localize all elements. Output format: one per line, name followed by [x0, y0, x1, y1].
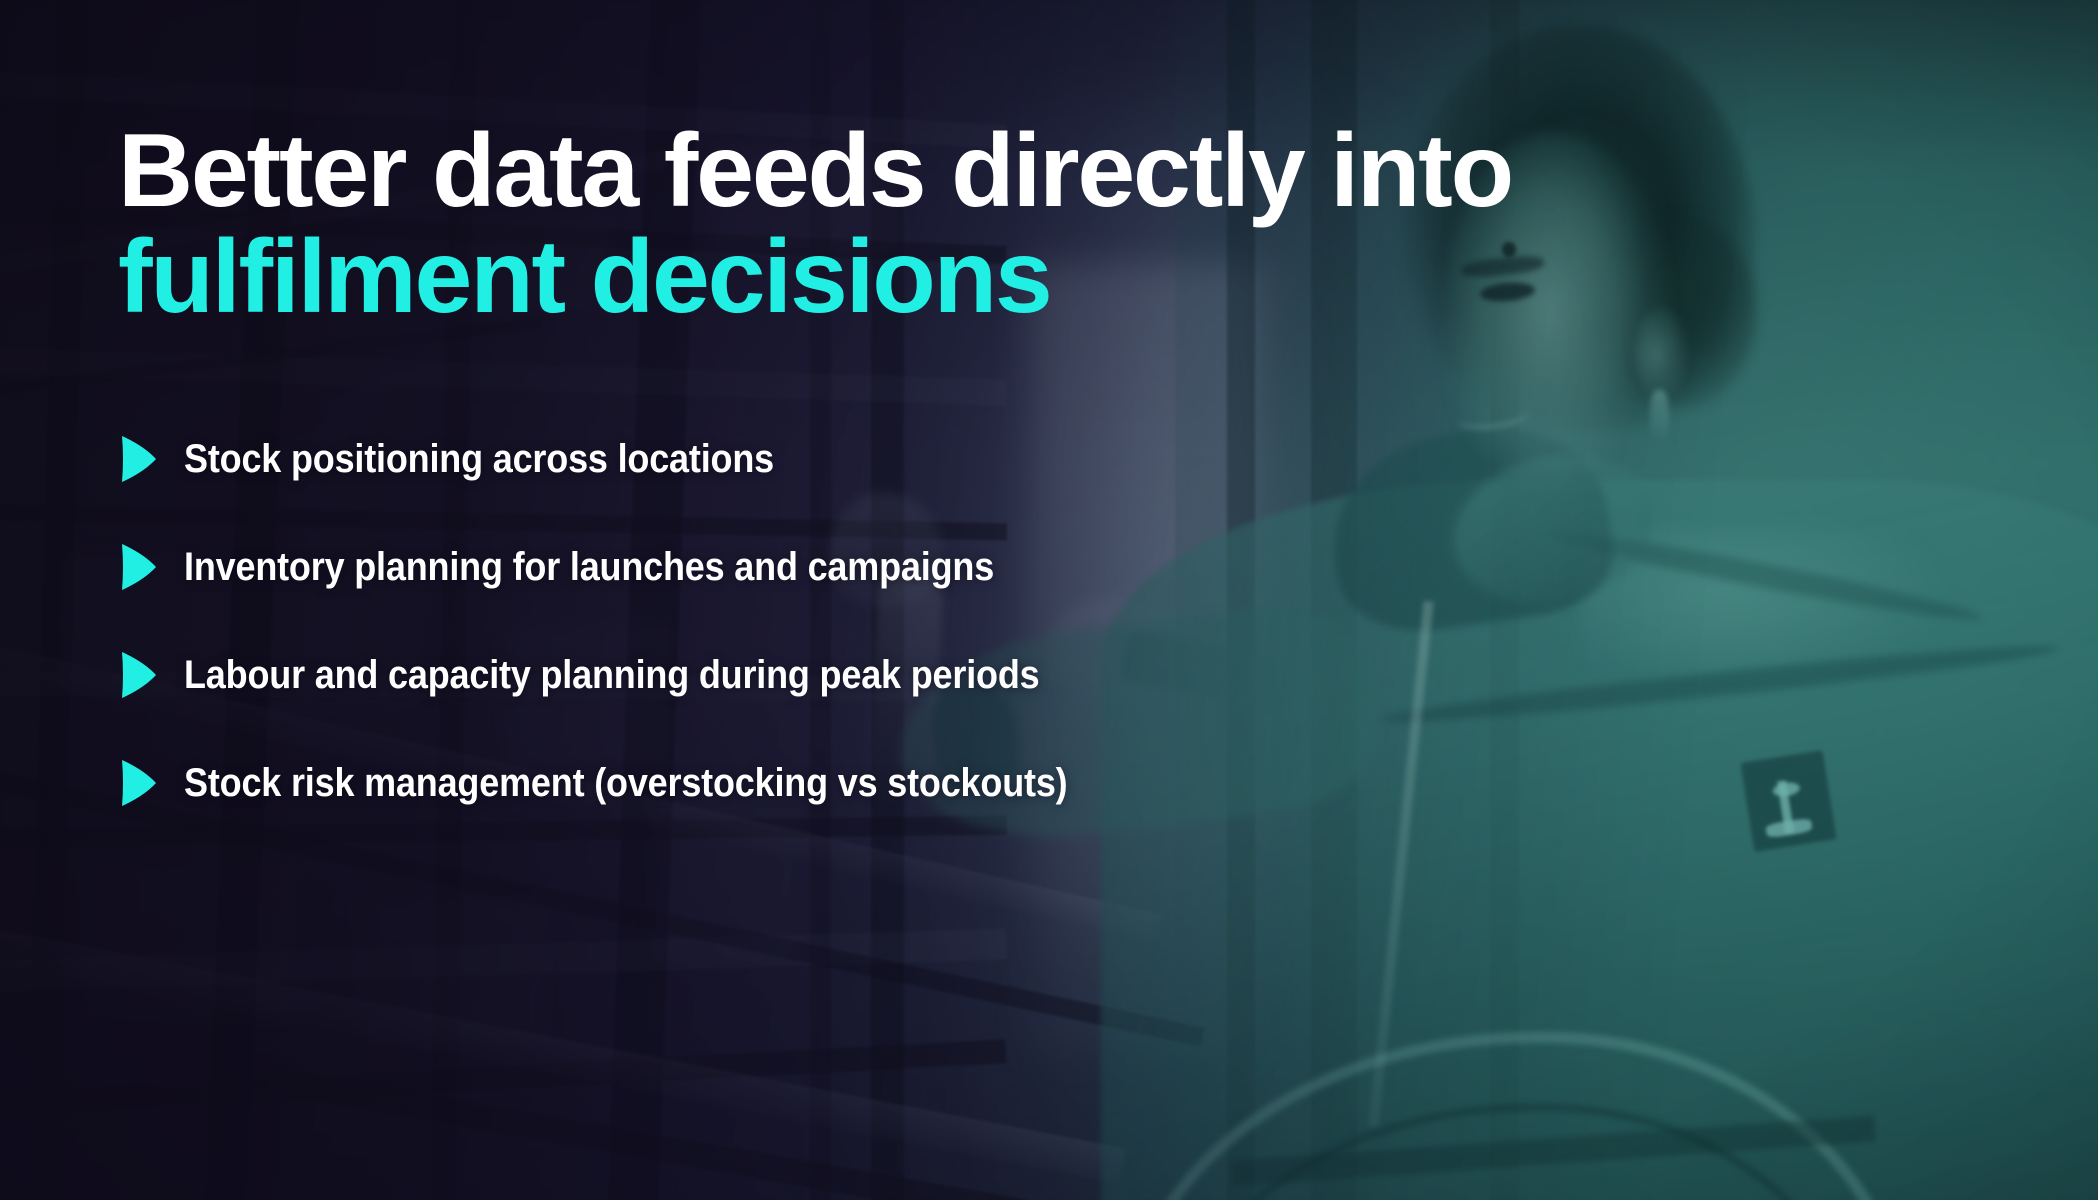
list-item-label: Labour and capacity planning during peak…	[184, 653, 1039, 698]
list-item-label: Stock risk management (overstocking vs s…	[184, 761, 1067, 806]
list-item-label: Inventory planning for launches and camp…	[184, 545, 994, 590]
play-triangle-icon	[118, 758, 158, 808]
play-triangle-icon	[118, 542, 158, 592]
headline-line-2: fulfilment decisions	[118, 224, 1838, 330]
list-item: Stock positioning across locations	[118, 434, 2098, 484]
list-item-label: Stock positioning across locations	[184, 437, 774, 482]
slide-content: Better data feeds directly into fulfilme…	[0, 0, 2098, 1200]
list-item: Labour and capacity planning during peak…	[118, 650, 2098, 700]
bullet-list: Stock positioning across locations Inven…	[118, 434, 2098, 808]
play-triangle-icon	[118, 434, 158, 484]
page-title: Better data feeds directly into fulfilme…	[118, 118, 1838, 330]
play-triangle-icon	[118, 650, 158, 700]
list-item: Inventory planning for launches and camp…	[118, 542, 2098, 592]
slide: Better data feeds directly into fulfilme…	[0, 0, 2098, 1200]
headline-line-1: Better data feeds directly into	[118, 118, 1838, 224]
list-item: Stock risk management (overstocking vs s…	[118, 758, 2098, 808]
